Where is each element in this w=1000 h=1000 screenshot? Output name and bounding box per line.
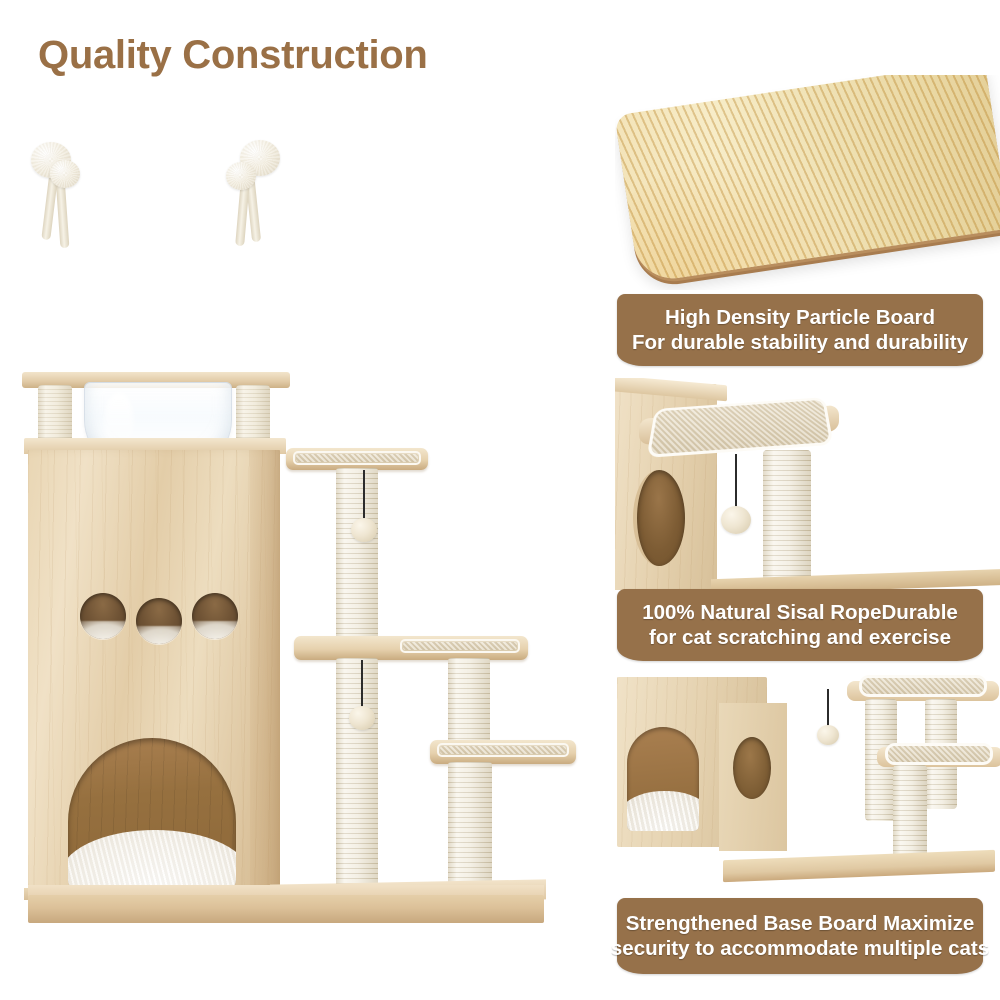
peep-hole-3 <box>192 593 238 639</box>
p2-oval-entrance <box>633 470 685 566</box>
caption-banner-particle-board: High Density Particle Board For durable … <box>617 294 983 366</box>
p3-platform-middle-carpet <box>885 743 993 765</box>
caption-line-1: 100% Natural Sisal RopeDurable <box>642 600 958 625</box>
peep-hole-fur-2 <box>136 626 182 644</box>
sisal-post-upper <box>336 468 378 644</box>
step-platform-bottom <box>430 740 576 764</box>
caption-line-2: for cat scratching and exercise <box>649 625 951 650</box>
particle-board-photo <box>615 75 1000 290</box>
p3-pompom-toy <box>817 725 839 745</box>
p3-arch-entrance <box>627 727 699 831</box>
toy-string-middle <box>361 660 363 710</box>
plush-cat-bed <box>68 830 236 890</box>
peep-hole-fur-3 <box>192 621 238 639</box>
peep-hole-1 <box>80 593 126 639</box>
step-platform-top-carpet <box>293 451 421 465</box>
cabinet-side-panel <box>250 450 280 898</box>
board-corner-shape <box>615 75 1000 284</box>
caption-banner-base-board: Strengthened Base Board Maximize securit… <box>617 898 983 974</box>
caption-line-2: For durable stability and durability <box>632 330 968 355</box>
board-grain-surface <box>615 75 1000 284</box>
caption-line-2: security to accommodate multiple cats <box>611 936 989 961</box>
pompom-stem-left-b <box>56 178 70 248</box>
infographic-page: Quality Construction <box>0 0 1000 1000</box>
step-platform-middle <box>294 636 528 660</box>
p2-sisal-post <box>763 450 811 590</box>
pompom-left-b <box>50 160 80 188</box>
p2-toy-string <box>735 454 737 512</box>
hero-product-image <box>0 120 600 1000</box>
step-platform-middle-carpet <box>400 639 520 653</box>
peep-hole-2 <box>136 598 182 644</box>
strengthened-base-board <box>28 895 544 923</box>
p2-pompom-toy <box>721 506 751 534</box>
p2-base-deck <box>711 569 1000 590</box>
p3-strengthened-base-board <box>723 850 995 882</box>
feature-panel-sisal-rope <box>615 378 1000 590</box>
pompom-toy-upper <box>351 518 377 542</box>
step-platform-top <box>286 448 428 470</box>
pompom-right-b <box>226 162 256 190</box>
p3-sisal-post-lower <box>893 765 927 859</box>
toy-string-upper <box>363 470 365 522</box>
sisal-post-middle-left <box>336 658 378 898</box>
pompom-toy-middle <box>349 706 375 730</box>
peep-hole-fur-1 <box>80 621 126 639</box>
sisal-rope-photo <box>615 378 1000 590</box>
feature-panel-particle-board <box>615 75 1000 290</box>
base-board-photo <box>615 673 1000 891</box>
feature-panel-base-board <box>615 673 1000 891</box>
p3-oval-entrance <box>733 737 771 799</box>
sisal-post-bottom <box>448 762 492 898</box>
p3-platform-top-carpet <box>859 675 987 697</box>
p3-plush-bed <box>627 791 699 831</box>
page-title: Quality Construction <box>38 33 428 78</box>
caption-line-1: High Density Particle Board <box>665 305 935 330</box>
caption-line-1: Strengthened Base Board Maximize <box>626 911 975 936</box>
condo-arch-entrance <box>68 738 236 890</box>
step-platform-bottom-carpet <box>437 743 569 757</box>
caption-banner-sisal-rope: 100% Natural Sisal RopeDurable for cat s… <box>617 589 983 661</box>
